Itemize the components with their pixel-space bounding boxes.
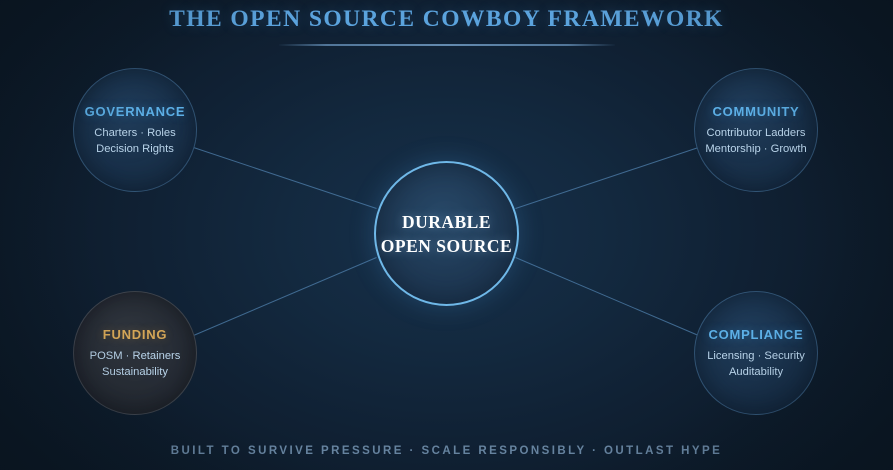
node-community-line-1: Contributor Ladders — [707, 125, 806, 141]
connector-hub-governance — [194, 148, 377, 209]
node-governance-line-2: Decision Rights — [96, 141, 174, 157]
node-governance[interactable]: GOVERNANCE Charters · Roles Decision Rig… — [73, 68, 197, 192]
node-funding-title: FUNDING — [103, 327, 167, 342]
node-compliance-line-2: Auditability — [729, 364, 783, 380]
node-community-line-2: Mentorship · Growth — [705, 141, 806, 157]
node-compliance-line-1: Licensing · Security — [707, 348, 805, 364]
node-funding-line-2: Sustainability — [102, 364, 168, 380]
connector-hub-community — [516, 148, 699, 209]
node-funding-line-1: POSM · Retainers — [90, 348, 181, 364]
center-hub[interactable]: DURABLE OPEN SOURCE — [374, 161, 519, 306]
center-hub-line-1: DURABLE — [402, 210, 491, 234]
node-governance-title: GOVERNANCE — [85, 104, 186, 119]
footer-tagline: BUILT TO SURVIVE PRESSURE · SCALE RESPON… — [0, 445, 893, 457]
node-community-title: COMMUNITY — [713, 104, 800, 119]
connector-hub-funding — [194, 258, 377, 336]
node-compliance[interactable]: COMPLIANCE Licensing · Security Auditabi… — [694, 291, 818, 415]
node-compliance-title: COMPLIANCE — [709, 327, 804, 342]
node-community[interactable]: COMMUNITY Contributor Ladders Mentorship… — [694, 68, 818, 192]
node-funding[interactable]: FUNDING POSM · Retainers Sustainability — [73, 291, 197, 415]
node-governance-line-1: Charters · Roles — [94, 125, 175, 141]
connector-hub-compliance — [516, 258, 699, 336]
center-hub-line-2: OPEN SOURCE — [381, 234, 512, 258]
diagram-canvas: THE OPEN SOURCE COWBOY FRAMEWORK GOVERNA… — [0, 0, 893, 470]
